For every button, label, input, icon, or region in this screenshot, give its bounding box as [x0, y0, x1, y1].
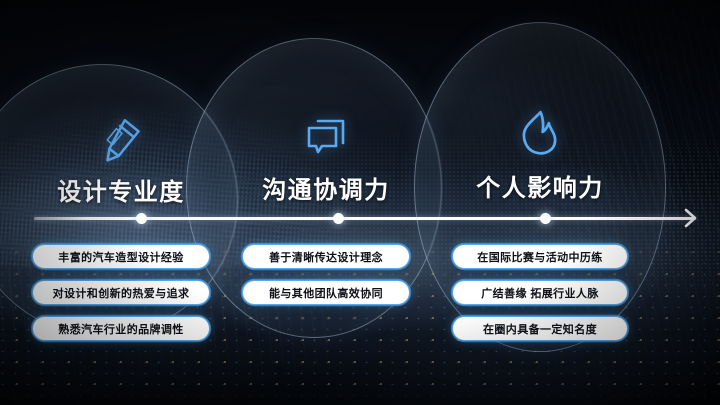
pill-list: 丰富的汽车造型设计经验 对设计和创新的热爱与追求 熟悉汽车行业的品牌调性: [16, 244, 226, 352]
chat-bubbles-icon: [295, 108, 357, 166]
timeline-marker[interactable]: [333, 213, 344, 224]
pill-item[interactable]: 善于清晰传达设计理念: [242, 244, 410, 269]
pill-item[interactable]: 能与其他团队高效协同: [242, 280, 410, 305]
pill-item[interactable]: 广结善缘 拓展行业人脉: [452, 280, 628, 305]
timeline-marker[interactable]: [136, 213, 147, 224]
column-heading: 设计专业度: [16, 172, 226, 207]
pill-list: 善于清晰传达设计理念 能与其他团队高效协同: [226, 244, 426, 316]
pill-list: 在国际比赛与活动中历练 广结善缘 拓展行业人脉 在圈内具备一定知名度: [434, 244, 646, 352]
flame-icon: [509, 104, 571, 162]
pill-item[interactable]: 丰富的汽车造型设计经验: [32, 244, 210, 269]
timeline-marker[interactable]: [540, 213, 551, 224]
column-heading: 沟通协调力: [226, 170, 426, 205]
pill-item[interactable]: 在国际比赛与活动中历练: [452, 244, 628, 269]
timeline-axis: [34, 217, 696, 220]
arrow-right-icon: [682, 208, 700, 228]
pen-ruler-icon: [90, 110, 152, 168]
column-communication: 沟通协调力 善于清晰传达设计理念 能与其他团队高效协同: [226, 0, 426, 405]
column-personal-influence: 个人影响力 在国际比赛与活动中历练 广结善缘 拓展行业人脉 在圈内具备一定知名度: [434, 0, 646, 405]
pill-item[interactable]: 对设计和创新的热爱与追求: [32, 280, 210, 305]
column-design-expertise: 设计专业度 丰富的汽车造型设计经验 对设计和创新的热爱与追求 熟悉汽车行业的品牌…: [16, 0, 226, 405]
pill-item[interactable]: 在圈内具备一定知名度: [452, 316, 628, 341]
column-heading: 个人影响力: [434, 168, 646, 203]
pill-item[interactable]: 熟悉汽车行业的品牌调性: [32, 316, 210, 341]
slide-canvas: 设计专业度 丰富的汽车造型设计经验 对设计和创新的热爱与追求 熟悉汽车行业的品牌…: [0, 0, 720, 405]
